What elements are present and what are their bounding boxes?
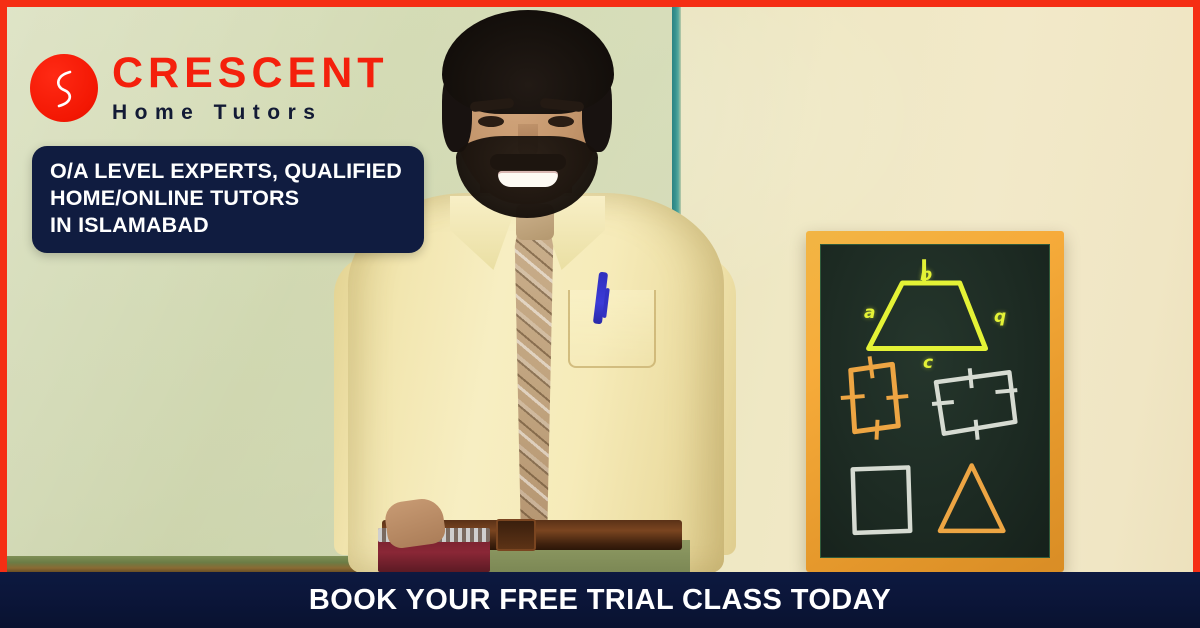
tick-left: [841, 396, 865, 398]
brand-name: CRESCENT: [112, 52, 389, 95]
triangle-shape: [940, 465, 1003, 530]
chalk-label-left: a: [864, 303, 875, 323]
headline-line-2: HOME/ONLINE TUTORS: [50, 185, 402, 212]
chalkboard-surface: b a q c: [820, 244, 1050, 558]
pg-tick-top: [970, 368, 972, 388]
chalkboard: b a q c: [806, 231, 1064, 572]
headline-line-1: O/A LEVEL EXPERTS, QUALIFIED: [50, 158, 402, 185]
cta-label: BOOK YOUR FREE TRIAL CLASS TODAY: [309, 584, 891, 617]
border-right: [1193, 0, 1200, 628]
cta-bar[interactable]: BOOK YOUR FREE TRIAL CLASS TODAY: [0, 572, 1200, 628]
shirt-pocket: [568, 290, 656, 368]
pg-tick-left: [932, 402, 954, 404]
chalkboard-drawings: [821, 245, 1049, 557]
tutor-photo-subject: [330, 0, 740, 572]
eye-right: [548, 116, 574, 127]
chalk-label-bottom: c: [923, 353, 933, 373]
brand-logo[interactable]: CRESCENT Home Tutors: [30, 52, 389, 123]
headline-line-3: IN ISLAMABAD: [50, 212, 402, 239]
crescent-circle-icon: [30, 54, 98, 122]
mouth-smile: [498, 171, 558, 187]
brand-logo-text: CRESCENT Home Tutors: [112, 52, 389, 123]
tick-top: [870, 356, 873, 378]
mustache: [490, 154, 566, 170]
tick-bottom: [877, 420, 878, 440]
belt-buckle: [496, 519, 536, 551]
chalk-label-top: b: [920, 265, 932, 285]
border-top: [0, 0, 1200, 7]
chalk-label-right: q: [994, 307, 1006, 327]
white-square-shape: [853, 467, 910, 532]
border-left: [0, 0, 7, 628]
trapezoid-shape: [869, 283, 986, 348]
pg-tick-bottom: [976, 420, 978, 440]
head: [434, 8, 620, 214]
pg-tick-right: [995, 390, 1017, 392]
hair-top: [442, 10, 614, 114]
promo-banner: b a q c: [0, 0, 1200, 628]
tick-right: [886, 396, 908, 398]
brand-tagline: Home Tutors: [112, 102, 389, 123]
headline-badge: O/A LEVEL EXPERTS, QUALIFIED HOME/ONLINE…: [32, 146, 424, 253]
eye-left: [478, 116, 504, 127]
